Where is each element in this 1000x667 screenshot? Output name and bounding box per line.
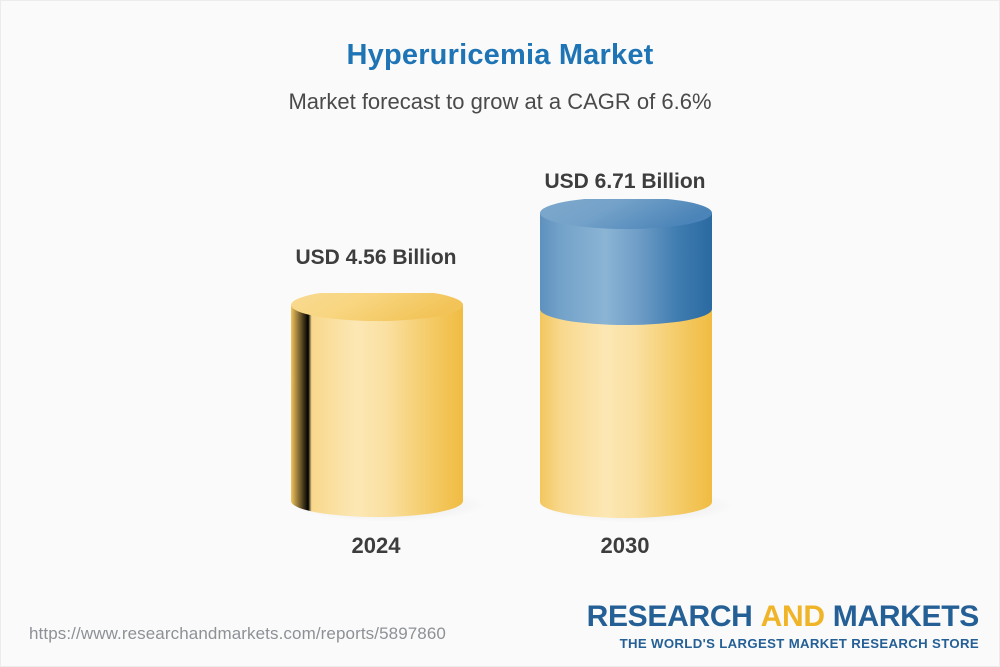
bar-group-2024: USD 4.56 Billion 2024 (289, 293, 464, 518)
value-label-2024: USD 4.56 Billion (246, 246, 506, 270)
chart-canvas: Hyperuricemia Market Market forecast to … (0, 0, 1000, 667)
logo-wordmark: RESEARCH AND MARKETS (587, 602, 979, 632)
cylinder-2024 (289, 293, 489, 528)
category-label-2030: 2030 (495, 533, 755, 559)
report-url[interactable]: https://www.researchandmarkets.com/repor… (29, 624, 446, 644)
logo-text-and: AND (761, 600, 825, 633)
logo-tagline: THE WORLD'S LARGEST MARKET RESEARCH STOR… (587, 637, 979, 650)
category-label-2024: 2024 (246, 533, 506, 559)
value-label-2030: USD 6.71 Billion (495, 170, 755, 194)
cylinder-2030 (538, 199, 738, 529)
logo-text-markets: MARKETS (833, 600, 979, 633)
plot-area: USD 4.56 Billion 2024 (1, 1, 1000, 667)
research-and-markets-logo[interactable]: RESEARCH AND MARKETS THE WORLD'S LARGEST… (587, 602, 979, 650)
bar-group-2030: USD 6.71 Billion 2030 (538, 199, 713, 519)
logo-text-research: RESEARCH (587, 600, 753, 633)
